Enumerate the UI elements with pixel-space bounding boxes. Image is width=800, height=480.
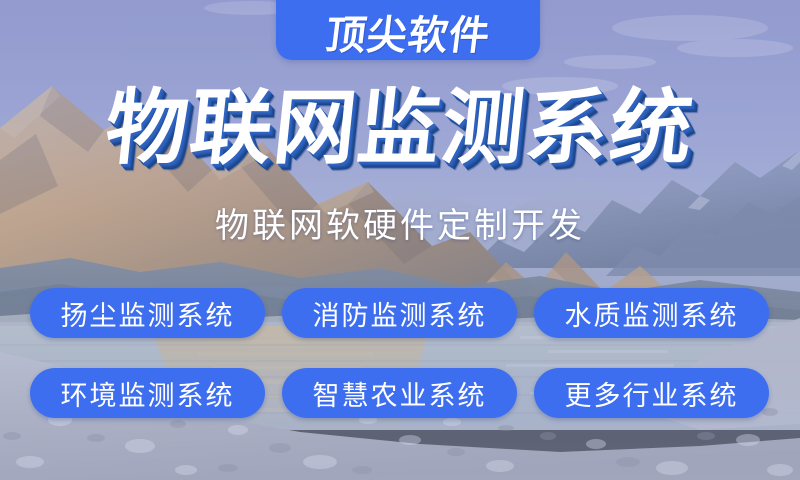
pill-label: 水质监测系统 [565, 294, 739, 333]
page-title: 物联网监测系统 [0, 88, 800, 170]
pill-label: 扬尘监测系统 [61, 294, 235, 333]
pill-label: 更多行业系统 [565, 374, 739, 413]
page-subtitle: 物联网软硬件定制开发 [0, 208, 800, 245]
pill-button-environment-monitoring[interactable]: 环境监测系统 [30, 368, 265, 418]
pill-button-fire-monitoring[interactable]: 消防监测系统 [282, 288, 517, 338]
pill-button-more-industry-systems[interactable]: 更多行业系统 [534, 368, 769, 418]
pill-button-smart-agriculture[interactable]: 智慧农业系统 [282, 368, 517, 418]
pill-label: 环境监测系统 [61, 374, 235, 413]
brand-badge-label: 顶尖软件 [324, 16, 493, 56]
promo-banner: 顶尖软件 物联网监测系统 物联网软硬件定制开发 扬尘监测系统 消防监测系统 水质… [0, 0, 800, 480]
pill-label: 智慧农业系统 [313, 374, 487, 413]
pill-button-dust-monitoring[interactable]: 扬尘监测系统 [30, 288, 265, 338]
pill-label: 消防监测系统 [313, 294, 487, 333]
pill-button-water-quality-monitoring[interactable]: 水质监测系统 [534, 288, 769, 338]
category-button-grid: 扬尘监测系统 消防监测系统 水质监测系统 环境监测系统 智慧农业系统 更多行业系… [30, 288, 770, 418]
brand-badge[interactable]: 顶尖软件 [276, 0, 540, 60]
